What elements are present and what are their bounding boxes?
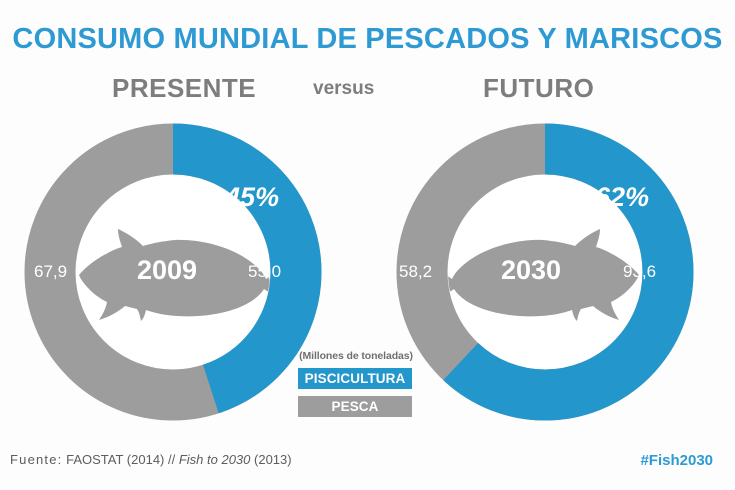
- value-label-pesca-2009: 67,9: [34, 262, 67, 282]
- value-label-piscicultura-2009: 55,0: [248, 262, 281, 282]
- heading-present: PRESENTE: [112, 73, 256, 104]
- chart-legend: (Millones de toneladas) PISCICULTURA PES…: [298, 350, 416, 417]
- value-label-piscicultura-2030: 93,6: [623, 262, 656, 282]
- value-label-pesca-2030: 58,2: [399, 262, 432, 282]
- source-part-2: (2013): [254, 452, 292, 467]
- percent-label-2030: 62%: [595, 182, 649, 213]
- percent-label-2009: 45%: [225, 182, 279, 213]
- source-note: Fuente: FAOSTAT (2014) // Fish to 2030 (…: [10, 452, 292, 467]
- hashtag-label: #Fish2030: [640, 452, 713, 469]
- donut-chart-2009: 2009 45% 55,0 67,9: [23, 122, 323, 422]
- page-title: CONSUMO MUNDIAL DE PESCADOS Y MARISCOS: [0, 23, 735, 56]
- source-lead: Fuente:: [10, 452, 63, 467]
- legend-item-pesca: PESCA: [298, 396, 412, 417]
- infographic-root: CONSUMO MUNDIAL DE PESCADOS Y MARISCOS P…: [0, 0, 735, 490]
- heading-future: FUTURO: [483, 73, 594, 104]
- legend-units-label: (Millones de toneladas): [296, 350, 416, 362]
- legend-item-piscicultura: PISCICULTURA: [298, 368, 412, 389]
- source-italic-title: Fish to 2030: [179, 452, 251, 467]
- heading-versus: versus: [313, 78, 374, 100]
- source-part-1: FAOSTAT (2014) //: [66, 452, 175, 467]
- donut-chart-2030: 2030 62% 93,6 58,2: [395, 122, 695, 422]
